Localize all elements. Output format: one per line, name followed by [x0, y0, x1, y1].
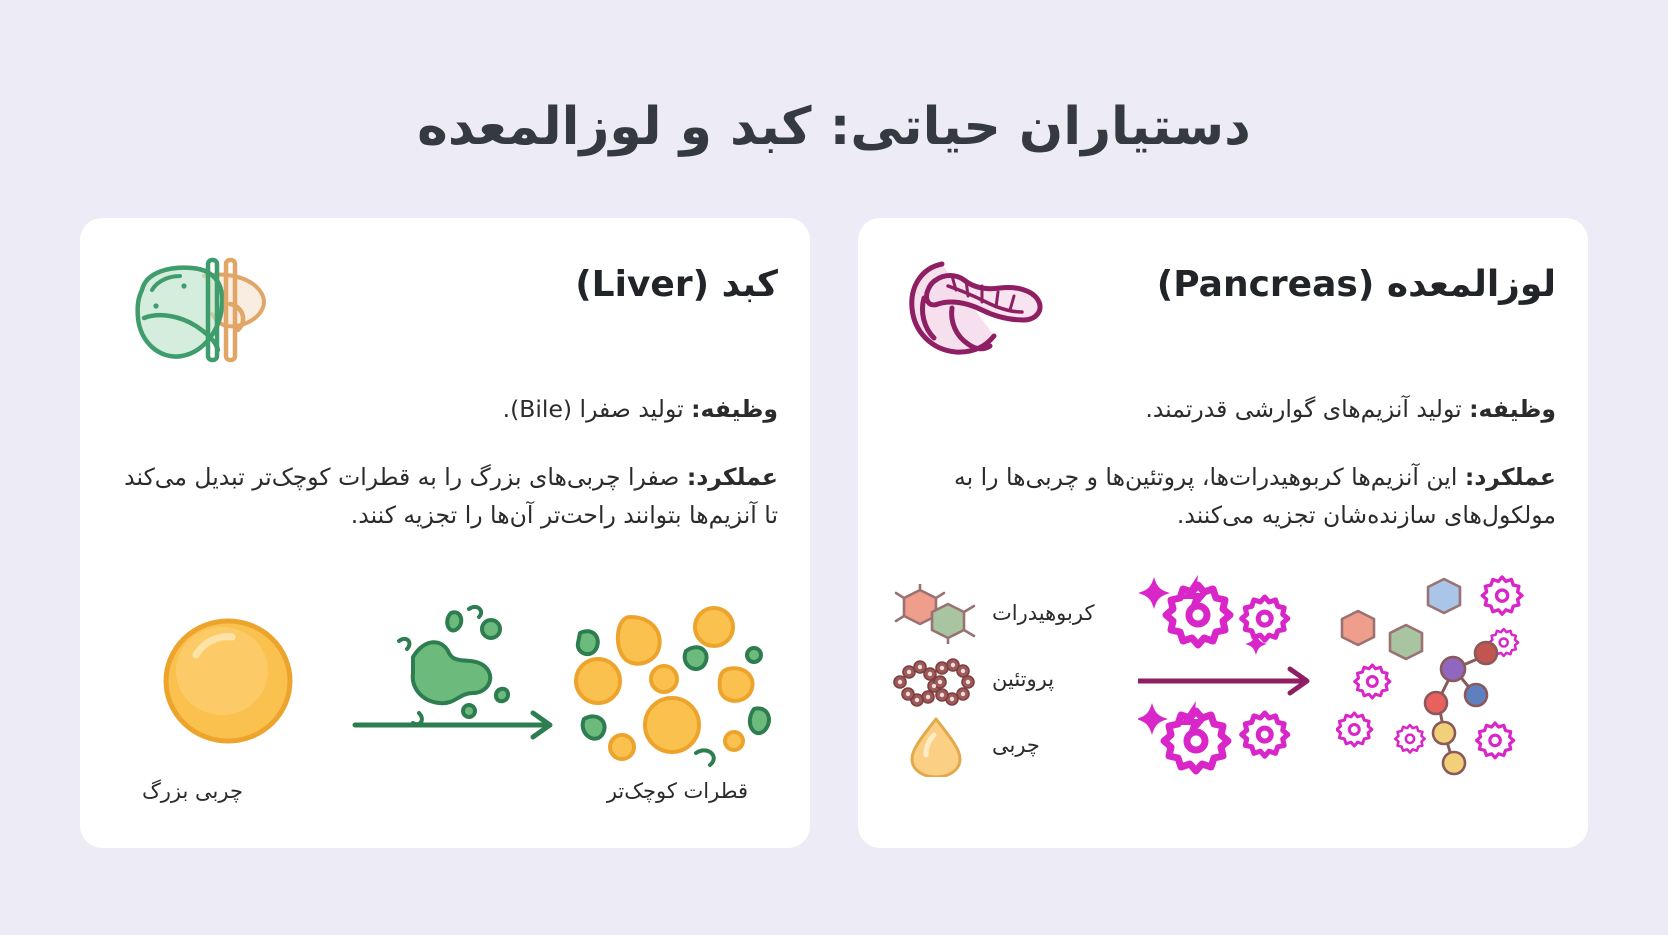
pancreas-role-text: تولید آنزیم‌های گوارشی قدرتمند.	[1145, 395, 1469, 423]
liver-role: وظیفه: تولید صفرا (Bile).	[112, 390, 778, 428]
lightning-icons	[1180, 575, 1208, 745]
liver-caption-row: چربی بزرگ قطرات کوچک‌تر	[112, 779, 778, 803]
carbohydrate-hexagon-icon	[890, 584, 982, 644]
substrate-protein-label: پروتئین	[992, 660, 1054, 700]
pancreas-function-label: عملکرد:	[1465, 463, 1556, 491]
pancreas-role-label: وظیفه:	[1469, 395, 1556, 423]
liver-title: کبد (Liver)	[282, 264, 778, 305]
pancreas-function: عملکرد: این آنزیم‌ها کربوهیدرات‌ها، پروت…	[890, 458, 1556, 534]
liver-flow-row	[112, 575, 778, 785]
liver-card-header: کبد (Liver)	[112, 246, 778, 376]
broken-down-molecules-icon	[1336, 573, 1551, 788]
liver-arrow-icon	[355, 713, 550, 737]
protein-chain-icon	[890, 650, 982, 710]
small-fat-droplets-icon	[568, 593, 778, 768]
substrate-protein: پروتئین	[890, 649, 1135, 711]
liver-function-label: عملکرد:	[687, 463, 778, 491]
pancreas-organ-icon	[890, 246, 1060, 376]
liver-catalyst-and-arrow	[350, 595, 569, 765]
large-fat-droplet-icon	[156, 605, 306, 755]
substrate-fat: چربی	[890, 715, 1135, 777]
fat-droplet-icon	[890, 715, 982, 777]
pancreas-enzymes-and-arrow	[1135, 573, 1331, 788]
enzyme-gears-icon	[1138, 573, 1328, 788]
pancreas-substrates: کربوهیدرات	[890, 583, 1135, 777]
card-pancreas: لوزالمعده (Pancreas) وظیفه: تولید آنزیم‌…	[858, 218, 1588, 848]
liver-function-text: صفرا چربی‌های بزرگ را به قطرات کوچک‌تر ت…	[124, 463, 778, 529]
pancreas-arrow-icon	[1138, 669, 1307, 693]
liver-role-text: تولید صفرا (Bile).	[503, 395, 691, 423]
liver-output-label: قطرات کوچک‌تر	[607, 779, 748, 803]
substrate-carbohydrate-label: کربوهیدرات	[992, 594, 1094, 634]
pancreas-output-figure	[1331, 573, 1556, 788]
liver-role-label: وظیفه:	[691, 395, 778, 423]
pancreas-title: لوزالمعده (Pancreas)	[1060, 264, 1556, 305]
liver-diagram: چربی بزرگ قطرات کوچک‌تر	[112, 575, 778, 830]
liver-output-figure	[568, 593, 778, 768]
liver-organ-icon	[112, 246, 282, 376]
sparkle-icons	[1138, 577, 1267, 735]
page-title: دستیاران حیاتی: کبد و لوزالمعده	[0, 97, 1668, 157]
substrate-fat-label: چربی	[992, 726, 1040, 766]
liver-input-label: چربی بزرگ	[142, 779, 243, 803]
pancreas-flow-row: کربوهیدرات	[890, 575, 1556, 785]
card-liver: کبد (Liver) وظیفه: تولید صفرا (Bile).	[80, 218, 810, 848]
pancreas-diagram: کربوهیدرات	[890, 575, 1556, 830]
liver-function: عملکرد: صفرا چربی‌های بزرگ را به قطرات ک…	[112, 458, 778, 534]
liver-input-figure	[112, 605, 350, 755]
cards-container: کبد (Liver) وظیفه: تولید صفرا (Bile).	[80, 218, 1588, 848]
pancreas-role: وظیفه: تولید آنزیم‌های گوارشی قدرتمند.	[890, 390, 1556, 428]
pancreas-card-header: لوزالمعده (Pancreas)	[890, 246, 1556, 376]
bile-splash-icon	[399, 607, 508, 724]
substrate-carbohydrate: کربوهیدرات	[890, 583, 1135, 645]
